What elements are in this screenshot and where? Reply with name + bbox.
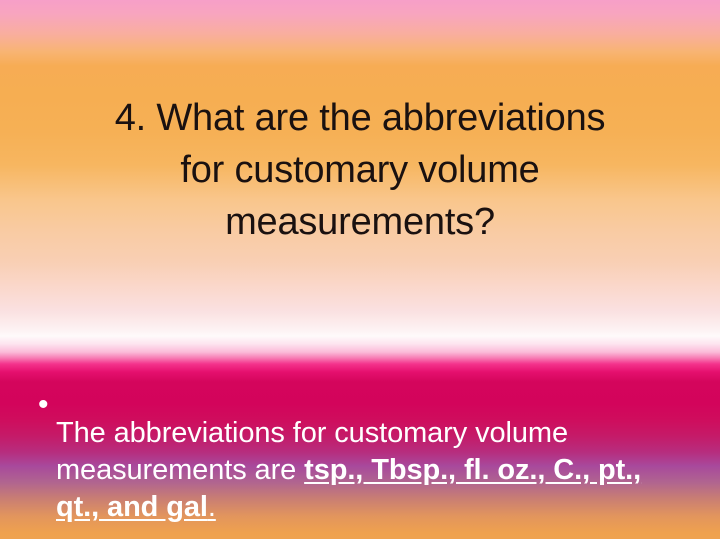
slide-title: 4. What are the abbreviations for custom… [36, 92, 684, 248]
bullet-icon: • [30, 386, 56, 424]
title-line-1: 4. What are the abbreviations [36, 92, 684, 144]
body-paragraph: The abbreviations for customary volume m… [56, 415, 690, 526]
body-trailing-text: . [208, 491, 216, 523]
slide-canvas: 4. What are the abbreviations for custom… [0, 0, 720, 539]
slide-body: • The abbreviations for customary volume… [30, 386, 690, 539]
title-line-2: for customary volume [36, 144, 684, 196]
title-line-3: measurements? [36, 196, 684, 248]
